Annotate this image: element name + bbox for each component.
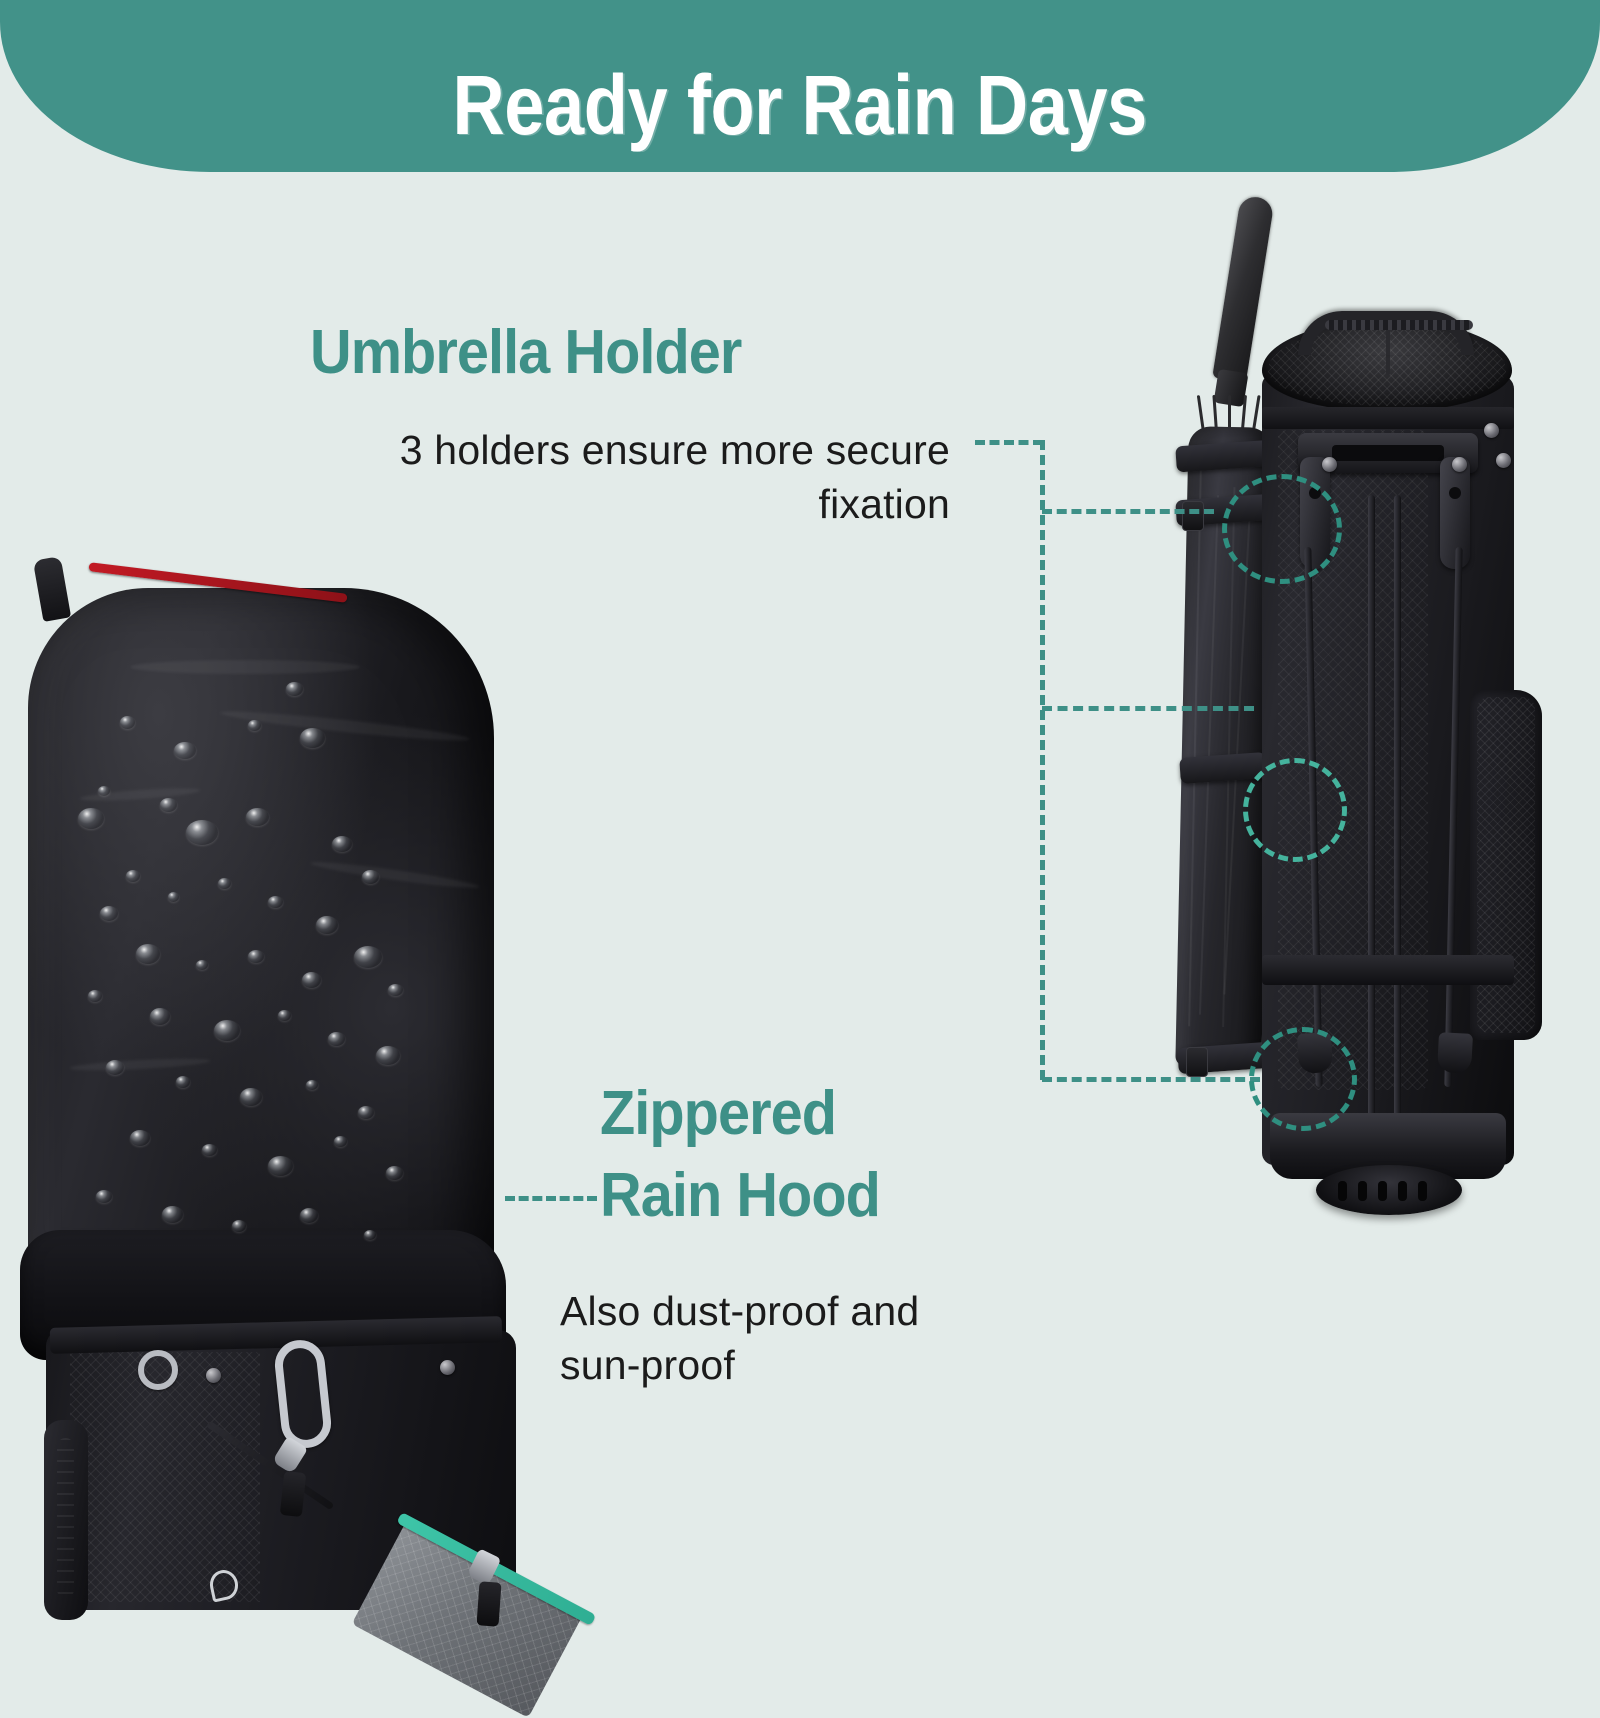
bag-mesh-texture (70, 1352, 260, 1602)
shoulder-strap-pad (44, 1420, 88, 1620)
infographic-canvas: Ready for Rain Days (0, 0, 1600, 1600)
callout-line-vertical-spine (1040, 440, 1045, 1080)
hood-hanging-loop (33, 556, 71, 622)
water-droplet (218, 878, 231, 889)
hood-crease (130, 660, 360, 674)
water-droplet (302, 972, 321, 988)
center-rod-right (1394, 495, 1401, 1185)
rain-hood-cover (28, 588, 494, 1288)
water-droplet (354, 946, 382, 968)
water-droplet (168, 892, 179, 902)
bag-top-band (1262, 407, 1514, 429)
water-droplet (240, 1088, 262, 1106)
highlight-circle-umbrella-holder-bottom (1249, 1027, 1357, 1131)
water-droplet (268, 896, 283, 908)
highlight-circle-umbrella-holder-middle (1243, 758, 1347, 862)
water-droplet (334, 1136, 347, 1147)
stand-leg-foot-right (1437, 1032, 1473, 1074)
water-droplet (202, 1144, 217, 1156)
water-droplet (376, 1046, 400, 1065)
rivet (1484, 423, 1499, 438)
water-droplet (232, 1220, 246, 1232)
callout-line-branch-1 (1042, 509, 1214, 514)
water-droplet (300, 1208, 318, 1223)
water-droplet (130, 1130, 150, 1146)
product-photo-rain-hood-bag (10, 540, 550, 1600)
callout-line-rain-hood (505, 1196, 597, 1201)
water-droplet (196, 960, 208, 970)
rain-hood-heading-line-1: Zippered (600, 1078, 836, 1149)
header-banner: Ready for Rain Days (0, 0, 1600, 172)
water-droplet (268, 1156, 293, 1176)
callout-line-branch-3 (1042, 1077, 1260, 1082)
water-droplet (96, 1190, 112, 1203)
water-droplet (126, 870, 140, 882)
side-mesh-pocket (1470, 690, 1542, 1040)
water-droplet (358, 1106, 374, 1119)
rivet (440, 1360, 455, 1375)
water-droplet (306, 1080, 318, 1090)
rivet (1452, 457, 1467, 472)
water-droplet (388, 984, 403, 996)
umbrella-holder-description: 3 holders ensure more secure fixation (330, 423, 950, 531)
umbrella-buckle (1182, 501, 1204, 531)
water-droplet (316, 916, 338, 934)
carry-handle (1298, 311, 1474, 355)
center-rod-left (1368, 495, 1375, 1185)
banner-title: Ready for Rain Days (453, 57, 1147, 154)
water-droplet (106, 1060, 124, 1075)
water-droplet (364, 1230, 376, 1240)
water-droplet (186, 820, 218, 845)
water-droplet (286, 682, 303, 696)
bag-foot-plate (1316, 1165, 1462, 1215)
water-droplet (332, 836, 352, 852)
water-droplet (328, 1032, 345, 1046)
rivet (206, 1368, 221, 1383)
water-droplet (362, 870, 379, 884)
water-droplet (174, 742, 196, 759)
water-droplet (150, 1008, 170, 1025)
callout-line-branch-2 (1042, 706, 1254, 711)
water-droplet (248, 950, 264, 963)
water-droplet (278, 1010, 291, 1021)
water-droplet (214, 1020, 240, 1041)
water-droplet (176, 1076, 190, 1088)
callout-line-top-left (975, 440, 1043, 445)
rain-hood-description: Also dust-proof and sun-proof (560, 1284, 980, 1392)
zipper-pull-tab (476, 1581, 501, 1626)
d-ring (138, 1350, 178, 1390)
umbrella-holder-heading: Umbrella Holder (310, 317, 741, 388)
highlight-circle-umbrella-holder-top (1222, 474, 1342, 584)
rain-hood-heading-line-2: Rain Hood (600, 1160, 880, 1231)
water-droplet (120, 716, 135, 729)
umbrella-buckle (1186, 1047, 1208, 1077)
water-droplet (88, 990, 102, 1002)
water-droplet (246, 808, 269, 826)
water-droplet (162, 1206, 183, 1223)
water-droplet (136, 944, 160, 964)
water-droplet (100, 906, 118, 921)
water-droplet (386, 1166, 403, 1180)
water-droplet (78, 808, 104, 829)
water-droplet (160, 798, 177, 812)
rivet (1322, 457, 1337, 472)
rivet (1496, 453, 1511, 468)
lower-strap-band (1262, 955, 1514, 985)
zipper-pull-tab (280, 1471, 306, 1517)
water-droplet (300, 728, 325, 748)
water-droplet (248, 720, 261, 731)
water-droplet (98, 786, 110, 796)
umbrella-handle (1212, 195, 1275, 383)
